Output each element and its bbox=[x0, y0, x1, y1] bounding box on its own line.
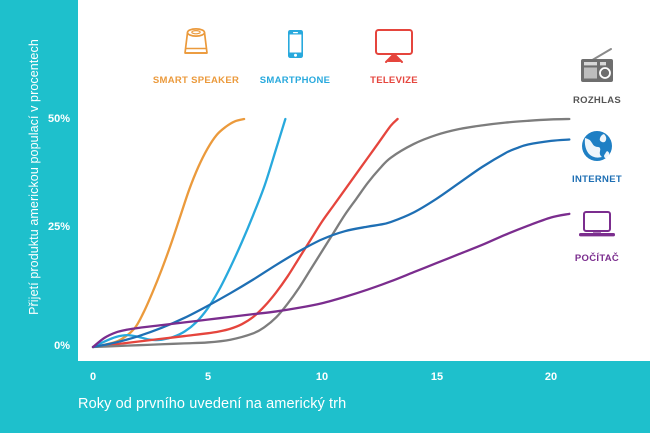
legend-item-smartphone[interactable]: SMARTPHONE bbox=[249, 22, 341, 86]
legend-label-televize: TELEVIZE bbox=[370, 75, 418, 86]
legend-label-rozhlas: ROZHLAS bbox=[573, 95, 621, 106]
legend-label-pocitac: POČÍTAČ bbox=[575, 253, 619, 264]
series-line-rozhlas bbox=[93, 119, 569, 347]
legend-label-smart-speaker: SMART SPEAKER bbox=[153, 75, 239, 86]
x-tick-20: 20 bbox=[536, 371, 566, 383]
radio-icon bbox=[573, 44, 621, 88]
legend-item-televize[interactable]: TELEVIZE bbox=[348, 22, 440, 86]
laptop-icon bbox=[574, 202, 620, 246]
x-tick-5: 5 bbox=[193, 371, 223, 383]
legend-item-smart-speaker[interactable]: SMART SPEAKER bbox=[150, 22, 242, 86]
legend-label-smartphone: SMARTPHONE bbox=[260, 75, 331, 86]
y-tick-25: 25% bbox=[24, 221, 70, 233]
smart-speaker-icon bbox=[181, 22, 211, 68]
x-axis-title: Roky od prvního uvedení na americký trh bbox=[78, 396, 346, 412]
television-icon bbox=[371, 22, 417, 68]
x-tick-15: 15 bbox=[422, 371, 452, 383]
x-tick-0: 0 bbox=[78, 371, 108, 383]
x-tick-10: 10 bbox=[307, 371, 337, 383]
chart-page: Přijetí produktu americkou populací v pr… bbox=[0, 0, 650, 433]
legend-item-internet[interactable]: INTERNET bbox=[552, 123, 642, 185]
x-axis-band: 0 5 10 15 20 Roky od prvního uvedení na … bbox=[0, 361, 650, 433]
globe-icon bbox=[577, 123, 617, 167]
legend-label-internet: INTERNET bbox=[572, 174, 622, 185]
y-axis-band: Přijetí produktu americkou populací v pr… bbox=[0, 0, 78, 361]
series-line-internet bbox=[93, 140, 569, 347]
legend-right: ROZHLAS INTERNET POČÍTAČ bbox=[552, 44, 642, 281]
y-tick-0: 0% bbox=[24, 340, 70, 352]
y-axis-title: Přijetí produktu americkou populací v pr… bbox=[27, 0, 41, 357]
series-line-smart-speaker bbox=[93, 119, 244, 347]
legend-top: SMART SPEAKER SMARTPHONE bbox=[150, 22, 440, 86]
smartphone-icon bbox=[282, 22, 308, 68]
legend-item-rozhlas[interactable]: ROZHLAS bbox=[552, 44, 642, 106]
y-tick-50: 50% bbox=[24, 113, 70, 125]
legend-item-pocitac[interactable]: POČÍTAČ bbox=[552, 202, 642, 264]
